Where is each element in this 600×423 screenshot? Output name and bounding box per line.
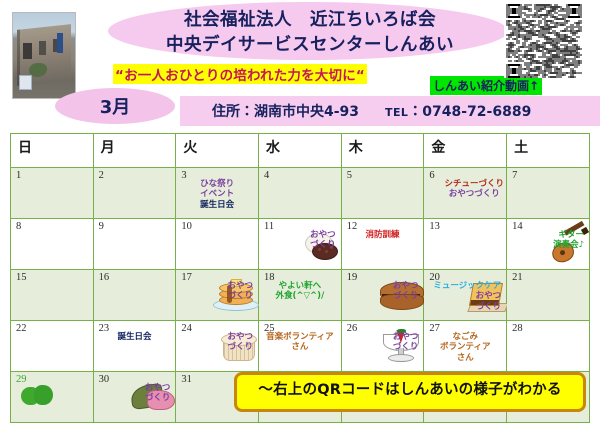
event-text: おやつづくり xyxy=(444,189,504,199)
title-line-2: 中央デイサービスセンターしんあい xyxy=(166,33,454,58)
day-number: 7 xyxy=(512,170,517,181)
event-text: ギター 演奏会♪ xyxy=(509,230,584,251)
day-events: 音楽ボランティア さん xyxy=(259,332,341,353)
calendar-day-24[interactable]: 24おやつ づくり xyxy=(176,321,259,372)
calendar-day-13[interactable]: 13 xyxy=(424,219,507,270)
day-number: 2 xyxy=(99,170,104,181)
calendar-day-10[interactable]: 10 xyxy=(176,219,259,270)
weekday-header-row: 日月火水木金土 xyxy=(11,134,590,168)
day-number: 5 xyxy=(347,170,352,181)
calendar-day-25[interactable]: 25音楽ボランティア さん xyxy=(259,321,342,372)
day-number: 28 xyxy=(512,323,523,334)
weekday-header-2: 火 xyxy=(176,134,259,168)
tel-number: 0748-72-6889 xyxy=(422,104,531,120)
video-link-label: しんあい紹介動画↑ xyxy=(430,76,542,95)
day-number: 8 xyxy=(16,221,21,232)
event-text: やよい軒へ 外食(^▽^)/ xyxy=(261,281,339,302)
calendar-week-row: 891011おやつ づくり12消防訓練1314ギター 演奏会♪ xyxy=(11,219,590,270)
tel-separator: ： xyxy=(408,104,422,120)
signboard-shape xyxy=(57,33,63,53)
calendar-day-15[interactable]: 15 xyxy=(11,270,94,321)
day-number: 1 xyxy=(16,170,21,181)
calendar-day-8[interactable]: 8 xyxy=(11,219,94,270)
event-text: おやつ づくり xyxy=(178,281,253,302)
day-events: おやつ づくり xyxy=(342,332,424,353)
calendar-week-row: 123ひな祭り イベント誕生日会456シチューづくりおやつづくり7 xyxy=(11,168,590,219)
telephone-text: TEL：0748-72-6889 xyxy=(385,101,531,121)
calendar-day-11[interactable]: 11おやつ づくり xyxy=(259,219,342,270)
slogan-text: “お一人おひとりの培われた力を大切に“ xyxy=(113,64,367,84)
month-badge: 3月 xyxy=(55,88,175,124)
day-events: 誕生日会 xyxy=(94,332,176,342)
day-events: ミュージックケアおやつ づくり xyxy=(424,281,506,312)
day-number: 9 xyxy=(99,221,104,232)
calendar-day-6[interactable]: 6シチューづくりおやつづくり xyxy=(424,168,507,219)
calendar-day-22[interactable]: 22 xyxy=(11,321,94,372)
calendar-day-16[interactable]: 16 xyxy=(93,270,176,321)
day-events: なごみ ボランティア さん xyxy=(424,332,506,363)
qr-notice-text: ～右上のQRコードはしんあいの様子がわかる xyxy=(258,378,561,399)
calendar-day-28[interactable]: 28 xyxy=(507,321,590,372)
tel-label: TEL xyxy=(385,106,408,119)
qr-code[interactable] xyxy=(504,4,584,78)
calendar-day-4[interactable]: 4 xyxy=(259,168,342,219)
calendar-day-18[interactable]: 18やよい軒へ 外食(^▽^)/ xyxy=(259,270,342,321)
calendar-week-row: 151617おやつ づくり18やよい軒へ 外食(^▽^)/19おやつ づくり20… xyxy=(11,270,590,321)
calendar-day-26[interactable]: 26おやつ づくり xyxy=(341,321,424,372)
calendar-day-12[interactable]: 12消防訓練 xyxy=(341,219,424,270)
title-line-1: 社会福祉法人 近江ちいろば会 xyxy=(184,8,436,33)
calendar-week-row: 2223誕生日会24おやつ づくり25音楽ボランティア さん26おやつ づくり2… xyxy=(11,321,590,372)
event-text: 誕生日会 xyxy=(178,200,256,210)
day-events: おやつ づくり xyxy=(176,332,258,353)
calendar-day-23[interactable]: 23誕生日会 xyxy=(93,321,176,372)
window-shape xyxy=(39,41,46,55)
event-text: 消防訓練 xyxy=(344,230,422,240)
event-text: おやつ づくり xyxy=(261,230,336,251)
calendar-day-20[interactable]: 20ミュージックケアおやつ づくり xyxy=(424,270,507,321)
weekday-header-4: 木 xyxy=(341,134,424,168)
calendar-day-29[interactable]: 29 xyxy=(11,372,94,423)
calendar-day-1[interactable]: 1 xyxy=(11,168,94,219)
facility-photo xyxy=(12,12,76,99)
calendar-day-3[interactable]: 3ひな祭り イベント誕生日会 xyxy=(176,168,259,219)
event-text: おやつ づくり xyxy=(426,291,501,312)
qr-notice-banner: ～右上のQRコードはしんあいの様子がわかる xyxy=(234,372,586,412)
event-text: おやつ づくり xyxy=(178,332,253,353)
day-number: 16 xyxy=(99,272,110,283)
day-events: おやつ づくり xyxy=(259,230,341,251)
calendar-day-19[interactable]: 19おやつ づくり xyxy=(341,270,424,321)
day-events: おやつ づくり xyxy=(176,281,258,302)
calendar-day-9[interactable]: 9 xyxy=(93,219,176,270)
calendar-day-14[interactable]: 14ギター 演奏会♪ xyxy=(507,219,590,270)
day-number: 21 xyxy=(512,272,523,283)
page-title: 社会福祉法人 近江ちいろば会 中央デイサービスセンターしんあい xyxy=(100,5,520,61)
event-text: おやつ づくり xyxy=(344,281,419,302)
calendar-day-7[interactable]: 7 xyxy=(507,168,590,219)
event-text: おやつ づくり xyxy=(96,383,171,404)
page-header: 社会福祉法人 近江ちいろば会 中央デイサービスセンターしんあい “お一人おひとり… xyxy=(0,0,600,128)
event-text: ひな祭り イベント xyxy=(178,179,256,200)
calendar-day-21[interactable]: 21 xyxy=(507,270,590,321)
qr-code-canvas xyxy=(504,4,584,78)
weekday-header-1: 月 xyxy=(93,134,176,168)
event-text: シチューづくり xyxy=(444,179,504,189)
weekday-header-3: 水 xyxy=(259,134,342,168)
weekday-header-6: 土 xyxy=(507,134,590,168)
calendar-day-30[interactable]: 30おやつ づくり xyxy=(93,372,176,423)
day-events: やよい軒へ 外食(^▽^)/ xyxy=(259,281,341,302)
address-text: 住所：湖南市中央4-93 xyxy=(212,101,359,121)
weekday-header-0: 日 xyxy=(11,134,94,168)
event-text: おやつ づくり xyxy=(344,332,419,353)
weekday-header-5: 金 xyxy=(424,134,507,168)
day-number: 10 xyxy=(181,221,192,232)
event-text: 音楽ボランティア さん xyxy=(261,332,339,353)
event-text: なごみ ボランティア さん xyxy=(426,332,504,363)
event-text: 誕生日会 xyxy=(96,332,174,342)
day-number: 29 xyxy=(16,374,27,385)
contact-row: 住所：湖南市中央4-93 TEL：0748-72-6889 xyxy=(180,96,600,126)
day-number: 22 xyxy=(16,323,27,334)
nameplate-shape xyxy=(19,75,32,90)
event-text: ミュージックケア xyxy=(426,281,501,291)
clover-image xyxy=(21,384,55,410)
day-events: おやつ づくり xyxy=(94,383,176,404)
day-events: 消防訓練 xyxy=(342,230,424,240)
day-events: おやつ づくり xyxy=(342,281,424,302)
day-events: ギター 演奏会♪ xyxy=(507,230,589,251)
day-number: 31 xyxy=(181,374,192,385)
calendar-day-2[interactable]: 2 xyxy=(93,168,176,219)
window-shape xyxy=(23,43,32,59)
day-number: 13 xyxy=(429,221,440,232)
day-events: ひな祭り イベント誕生日会 xyxy=(176,179,258,210)
calendar-day-17[interactable]: 17おやつ づくり xyxy=(176,270,259,321)
day-number: 4 xyxy=(264,170,269,181)
day-number: 15 xyxy=(16,272,27,283)
calendar-day-5[interactable]: 5 xyxy=(341,168,424,219)
calendar-day-27[interactable]: 27なごみ ボランティア さん xyxy=(424,321,507,372)
day-events: シチューづくりおやつづくり xyxy=(424,179,506,200)
